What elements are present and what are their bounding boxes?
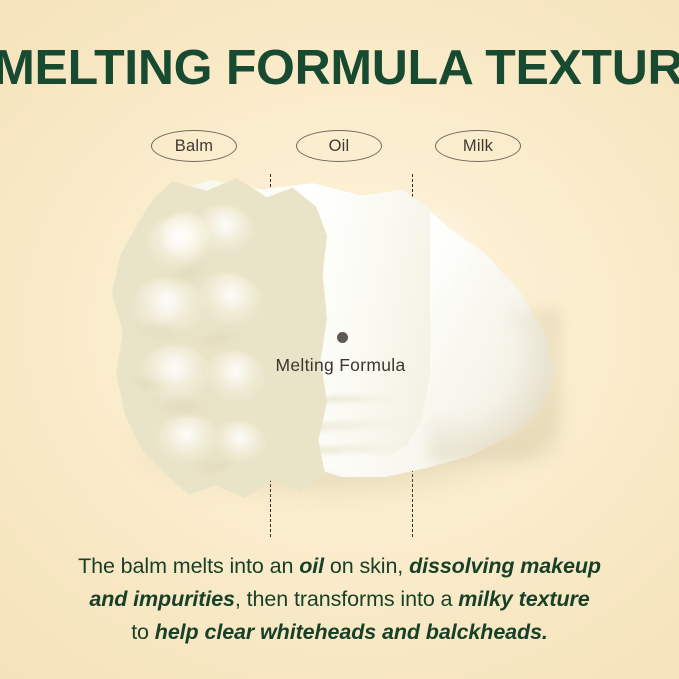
description-text: The balm melts into an oil on skin, diss… — [40, 550, 639, 649]
description-emphasis: oil — [299, 554, 324, 578]
stage-pill-label-oil: Oil — [329, 137, 350, 156]
stage-pill-label-milk: Milk — [463, 137, 493, 156]
description-text-fragment: on skin, — [324, 554, 409, 578]
description-text-fragment: The balm melts into an — [78, 554, 299, 578]
description-line-2: and impurities, then transforms into a m… — [40, 583, 639, 616]
description-text-fragment: , then transforms into a — [235, 587, 458, 611]
description-text-fragment: to — [131, 620, 155, 644]
page-title: MELTING FORMULA TEXTURE — [0, 44, 679, 93]
description-emphasis: dissolving makeup — [409, 554, 601, 578]
description-emphasis: milky texture — [458, 587, 589, 611]
stage-pill-balm[interactable]: Balm — [151, 130, 237, 162]
stage-label-row: Balm Oil Milk — [0, 130, 679, 164]
description-line-3: to help clear whiteheads and balckheads. — [40, 616, 639, 649]
stage-pill-label-balm: Balm — [175, 137, 213, 156]
title-bar: MELTING FORMULA TEXTURE — [0, 44, 679, 93]
description-emphasis: and impurities — [89, 587, 235, 611]
callout-label: Melting Formula — [276, 355, 406, 376]
callout: Melting Formula — [0, 332, 679, 376]
description-emphasis: help clear whiteheads and balckheads. — [155, 620, 548, 644]
callout-dot-icon — [337, 332, 348, 343]
stage-pill-oil[interactable]: Oil — [296, 130, 382, 162]
stage-pill-milk[interactable]: Milk — [435, 130, 521, 162]
description-line-1: The balm melts into an oil on skin, diss… — [40, 550, 639, 583]
